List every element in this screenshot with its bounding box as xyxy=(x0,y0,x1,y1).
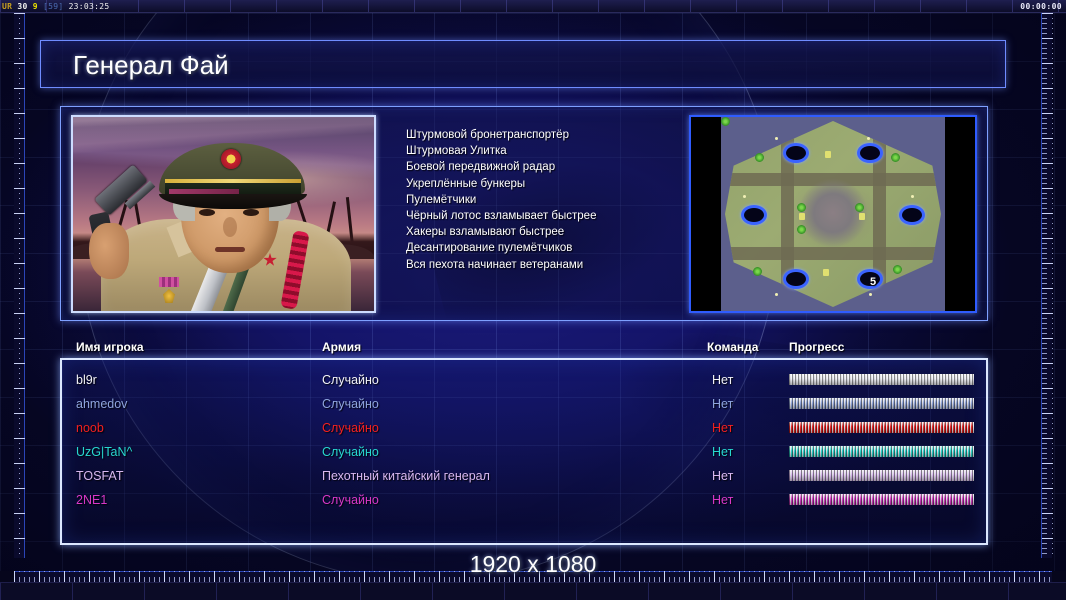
portrait-eye-left xyxy=(199,209,215,216)
player-progress-fill xyxy=(789,494,974,505)
column-header-progress: Прогресс xyxy=(789,338,844,356)
player-progress-bar xyxy=(789,494,974,505)
map-start-position[interactable] xyxy=(783,269,809,289)
player-name: bl9r xyxy=(76,370,97,390)
player-name: ahmedov xyxy=(76,394,127,414)
map-tree-icon xyxy=(797,203,806,212)
bonus-item: Вся пехота начинает ветеранами xyxy=(406,257,706,273)
player-progress-fill xyxy=(789,422,974,433)
map-object-dot xyxy=(775,137,778,140)
player-progress-bar xyxy=(789,446,974,457)
resolution-label: 1920 x 1080 xyxy=(0,550,1066,578)
page-title: Генерал Фай xyxy=(73,49,229,81)
map-tree-icon xyxy=(893,265,902,274)
portrait-nose xyxy=(223,217,237,237)
table-row[interactable]: UzG|TaN^ Случайно Нет xyxy=(62,442,990,466)
player-name: 2NE1 xyxy=(76,490,107,510)
map-object-dot xyxy=(867,137,870,140)
map-supply-icon xyxy=(799,213,805,220)
player-team[interactable]: Нет xyxy=(712,442,733,462)
bonus-item: Десантирование пулемётчиков xyxy=(406,240,706,256)
network-status-readout: UR 30 9 [59] 23:03:25 xyxy=(2,1,110,12)
map-start-position[interactable]: 5 xyxy=(857,269,883,289)
bonus-item: Боевой передвижной радар xyxy=(406,159,706,175)
player-team[interactable]: Нет xyxy=(712,466,733,486)
ruler-left xyxy=(14,13,25,558)
map-object-dot xyxy=(775,293,778,296)
table-row[interactable]: bl9r Случайно Нет xyxy=(62,370,990,394)
top-status-bar: UR 30 9 [59] 23:03:25 00:00:00 xyxy=(0,0,1066,13)
player-army[interactable]: Случайно xyxy=(322,442,379,462)
top-status-bar-segments xyxy=(0,0,1066,13)
player-progress-bar xyxy=(789,374,974,385)
player-list-panel: Имя игрока Армия Команда Прогресс bl9r С… xyxy=(60,358,988,545)
network-label: UR xyxy=(2,2,12,11)
portrait-cap-emblem-icon xyxy=(221,149,241,169)
table-row[interactable]: TOSFAT Пехотный китайский генерал Нет xyxy=(62,466,990,490)
column-header-player-name: Имя игрока xyxy=(76,338,144,356)
player-progress-fill xyxy=(789,374,974,385)
bottom-status-bar-segments xyxy=(0,583,1066,600)
map-tree-icon xyxy=(855,203,864,212)
player-army[interactable]: Пехотный китайский генерал xyxy=(322,466,490,486)
player-progress-fill xyxy=(789,446,974,457)
player-list-header: Имя игрока Армия Команда Прогресс xyxy=(62,338,990,358)
player-army[interactable]: Случайно xyxy=(322,394,379,414)
portrait-medal-ribbon xyxy=(159,277,179,287)
general-info-panel: Штурмовой бронетранспортёр Штурмовая Ули… xyxy=(60,106,988,321)
map-preview-image: 5 xyxy=(721,117,945,311)
player-team[interactable]: Нет xyxy=(712,370,733,390)
map-supply-icon xyxy=(823,269,829,276)
network-value-2: 9 xyxy=(33,2,38,11)
bonus-item: Штурмовая Улитка xyxy=(406,143,706,159)
portrait-eye-right xyxy=(243,209,259,216)
player-progress-bar xyxy=(789,398,974,409)
column-header-army: Армия xyxy=(322,338,361,356)
player-name: TOSFAT xyxy=(76,466,123,486)
player-army[interactable]: Случайно xyxy=(322,418,379,438)
table-row[interactable]: 2NE1 Случайно Нет xyxy=(62,490,990,514)
map-object-dot xyxy=(911,195,914,198)
general-title-panel: Генерал Фай xyxy=(40,40,1006,88)
player-progress-bar xyxy=(789,422,974,433)
bonus-item: Укреплённые бункеры xyxy=(406,176,706,192)
network-value-1: 30 xyxy=(17,2,27,11)
player-name: noob xyxy=(76,418,104,438)
map-supply-icon xyxy=(825,151,831,158)
game-lobby-screen: UR 30 9 [59] 23:03:25 00:00:00 Генерал Ф… xyxy=(0,0,1066,600)
map-tree-icon xyxy=(753,267,762,276)
lobby-content: Генерал Фай xyxy=(40,40,1006,545)
portrait-hand xyxy=(89,223,129,279)
table-row[interactable]: ahmedov Случайно Нет xyxy=(62,394,990,418)
bonus-item: Штурмовой бронетранспортёр xyxy=(406,127,706,143)
ruler-right-major-ticks xyxy=(1042,13,1053,558)
map-tree-icon xyxy=(721,117,730,126)
ruler-left-major-ticks xyxy=(14,13,25,558)
bottom-status-bar xyxy=(0,582,1066,600)
map-start-position[interactable] xyxy=(899,205,925,225)
elapsed-timer: 00:00:00 xyxy=(1020,1,1062,12)
portrait-mouth xyxy=(215,247,245,252)
column-header-team: Команда xyxy=(707,338,758,356)
map-supply-icon xyxy=(859,213,865,220)
network-bracket-value: [59] xyxy=(43,2,63,11)
map-start-position[interactable] xyxy=(857,143,883,163)
table-row[interactable]: noob Случайно Нет xyxy=(62,418,990,442)
system-clock: 23:03:25 xyxy=(69,2,110,11)
player-progress-fill xyxy=(789,470,974,481)
map-tree-icon xyxy=(755,153,764,162)
general-portrait xyxy=(71,115,376,313)
player-progress-fill xyxy=(789,398,974,409)
bonus-item: Чёрный лотос взламывает быстрее xyxy=(406,208,706,224)
map-object-dot xyxy=(743,195,746,198)
bonus-item: Хакеры взламывают быстрее xyxy=(406,224,706,240)
player-team[interactable]: Нет xyxy=(712,394,733,414)
map-start-position[interactable] xyxy=(741,205,767,225)
ruler-right xyxy=(1041,13,1052,558)
map-preview[interactable]: 5 xyxy=(689,115,977,313)
player-army[interactable]: Случайно xyxy=(322,370,379,390)
bonus-item: Пулемётчики xyxy=(406,192,706,208)
player-team[interactable]: Нет xyxy=(712,418,733,438)
map-start-position[interactable] xyxy=(783,143,809,163)
player-name: UzG|TaN^ xyxy=(76,442,132,462)
map-object-dot xyxy=(869,293,872,296)
map-tree-icon xyxy=(891,153,900,162)
general-bonus-list: Штурмовой бронетранспортёр Штурмовая Ули… xyxy=(406,127,706,273)
player-army[interactable]: Случайно xyxy=(322,490,379,510)
map-start-position-label: 5 xyxy=(860,273,886,291)
map-tree-icon xyxy=(797,225,806,234)
player-progress-bar xyxy=(789,470,974,481)
player-team[interactable]: Нет xyxy=(712,490,733,510)
